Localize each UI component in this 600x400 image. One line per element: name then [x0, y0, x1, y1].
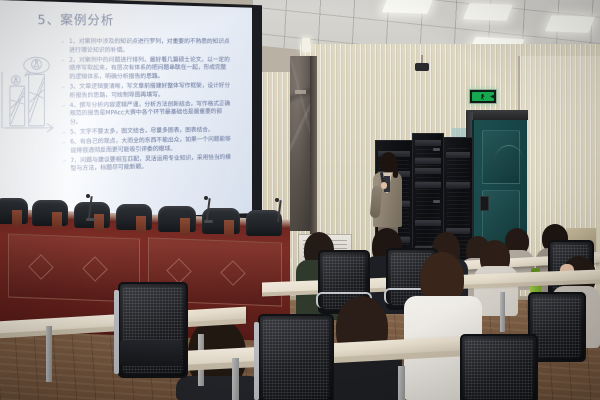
- door-arch-detail: [495, 145, 523, 160]
- presenter-hand: [381, 182, 387, 189]
- conference-room-photo: 5、案例分析: [0, 0, 600, 400]
- exit-sign: [469, 89, 497, 104]
- slide-bullet: 7、问题与建议要相互匹配，灵活运用专业知识，采用恰当的模型与方法，标题尽可能新颖…: [62, 154, 231, 175]
- rack-unit: [446, 182, 470, 188]
- chair-frame: [114, 290, 119, 374]
- rack-unit: [415, 182, 441, 188]
- slide-bullet: 2、对案例中的问题进行排列，最好看几篇硕士论文。以一定的顺序写取起来，有层次有体…: [60, 56, 230, 82]
- exit-sign-glow: [472, 92, 494, 101]
- slide-bullet: 1、对案例中涉及的知识点进行罗列，对重要的不熟悉的知识点进行理论知识的补偿。: [60, 38, 230, 55]
- table-leg: [232, 358, 239, 400]
- table-leg: [46, 326, 52, 382]
- chair-mesh: [465, 339, 533, 399]
- rostrum-chair-armrest: [52, 212, 62, 229]
- rostrum-chair-armrest: [12, 210, 22, 227]
- rack-unit: [415, 168, 441, 174]
- rack-unit: [415, 158, 441, 164]
- microphone-base: [204, 220, 213, 223]
- column-wall-plate: [295, 90, 306, 94]
- rack-handle: [433, 148, 440, 151]
- audience-body: [176, 376, 262, 400]
- chair-frame: [254, 322, 259, 400]
- microphone-head-icon: [275, 198, 279, 202]
- projection-screen: 5、案例分析: [0, 0, 252, 222]
- rostrum-chair-armrest: [224, 220, 234, 237]
- rack-unit: [446, 152, 470, 158]
- presenter-hair: [380, 152, 397, 172]
- chair-mesh: [263, 319, 329, 399]
- rostrum-chair[interactable]: [116, 204, 152, 230]
- slide-title: 5、案例分析: [37, 9, 114, 28]
- ceiling-light-panel: [545, 15, 595, 33]
- rostrum-chair-armrest: [180, 218, 190, 235]
- table-leg: [398, 366, 405, 400]
- rostrum-chair[interactable]: [246, 210, 282, 236]
- door-header: [466, 110, 528, 120]
- rostrum-chair[interactable]: [32, 200, 68, 226]
- rack-handle: [433, 200, 440, 203]
- slide-bullet: 6、有自己的观点，大而全的东西不能出众，如果一个问题能够说得很透彻反而更可能吸引…: [61, 136, 231, 156]
- chair-backrest: [460, 334, 538, 400]
- microphone-base: [86, 218, 95, 221]
- chair-seat: [120, 340, 182, 366]
- chair-backrest: [258, 314, 334, 400]
- table-leg: [500, 292, 505, 332]
- chair-mesh: [533, 297, 581, 357]
- microphone-head-icon: [204, 196, 208, 200]
- rack-unit: [415, 140, 441, 146]
- door-lock-icon[interactable]: [480, 196, 489, 211]
- rostrum-chair[interactable]: [158, 206, 196, 232]
- slide-bullet: 4、撰写分析内容逻辑严谨，分析方法创新结合，写作格式正确规范的报告是MPAcc大…: [61, 100, 231, 127]
- slide-bullet-list: 1、对案例中涉及的知识点进行罗列，对重要的不熟悉的知识点进行理论知识的补偿。 2…: [60, 38, 231, 176]
- rostrum-chair[interactable]: [74, 202, 110, 228]
- ceiling-light-panel: [463, 3, 513, 21]
- marble-column-edge: [310, 56, 317, 234]
- rostrum-chair-armrest: [94, 214, 104, 231]
- rack-unit: [415, 220, 441, 226]
- rostrum-chair-armrest: [136, 216, 146, 233]
- ceiling-light-panel: [382, 0, 434, 14]
- slide-content: 5、案例分析: [0, 0, 239, 222]
- arrow-left-icon: [490, 95, 494, 99]
- slide-sketch-illustration: [0, 52, 59, 144]
- security-camera-icon: [415, 63, 429, 71]
- slide-bullet: 3、文章逻辑要清晰，写文章前搭建好整体写作框架，设计好分析报告的思路，可绘制导图…: [61, 82, 231, 100]
- column-accent-light: [302, 38, 310, 52]
- running-person-icon: [481, 94, 486, 100]
- door-panel-upper: [482, 130, 520, 184]
- microphone-head-icon: [86, 194, 90, 198]
